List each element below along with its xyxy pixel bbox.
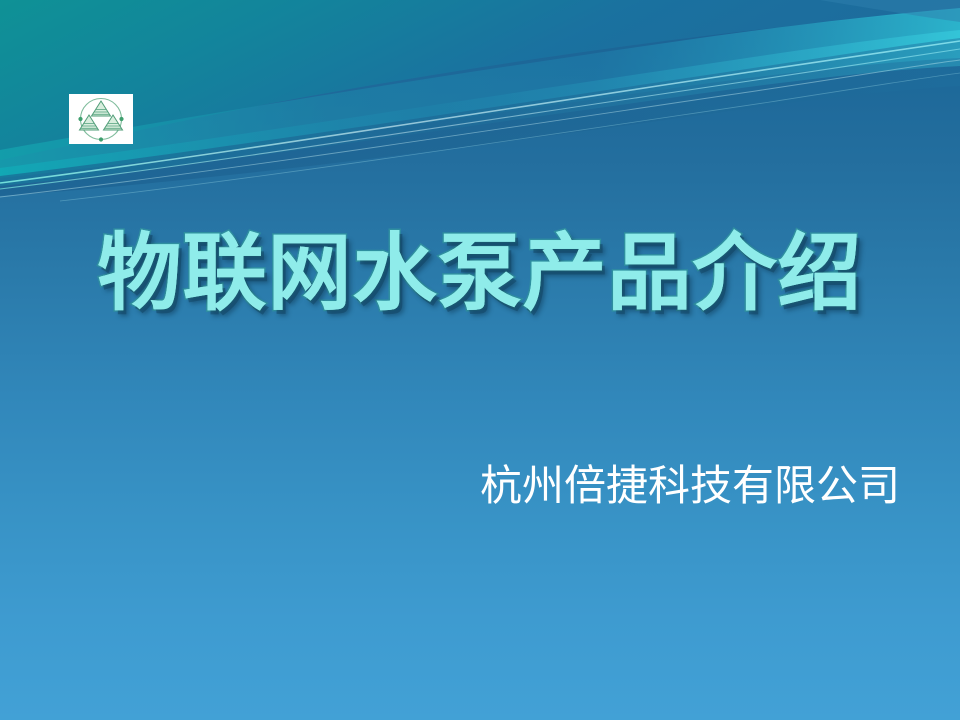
wave-decoration — [0, 0, 960, 230]
pyramid-bottom-left — [80, 115, 99, 130]
slide-subtitle: 杭州倍捷科技有限公司 — [0, 462, 900, 510]
presentation-slide: 物联网水泵产品介绍 物联网水泵产品介绍 杭州倍捷科技有限公司 — [0, 0, 960, 720]
pyramid-top — [92, 101, 111, 116]
three-pyramids-circle-icon — [69, 94, 133, 144]
pyramid-bottom-right — [104, 115, 123, 130]
slide-title: 物联网水泵产品介绍 — [0, 228, 960, 319]
company-logo — [69, 94, 133, 144]
